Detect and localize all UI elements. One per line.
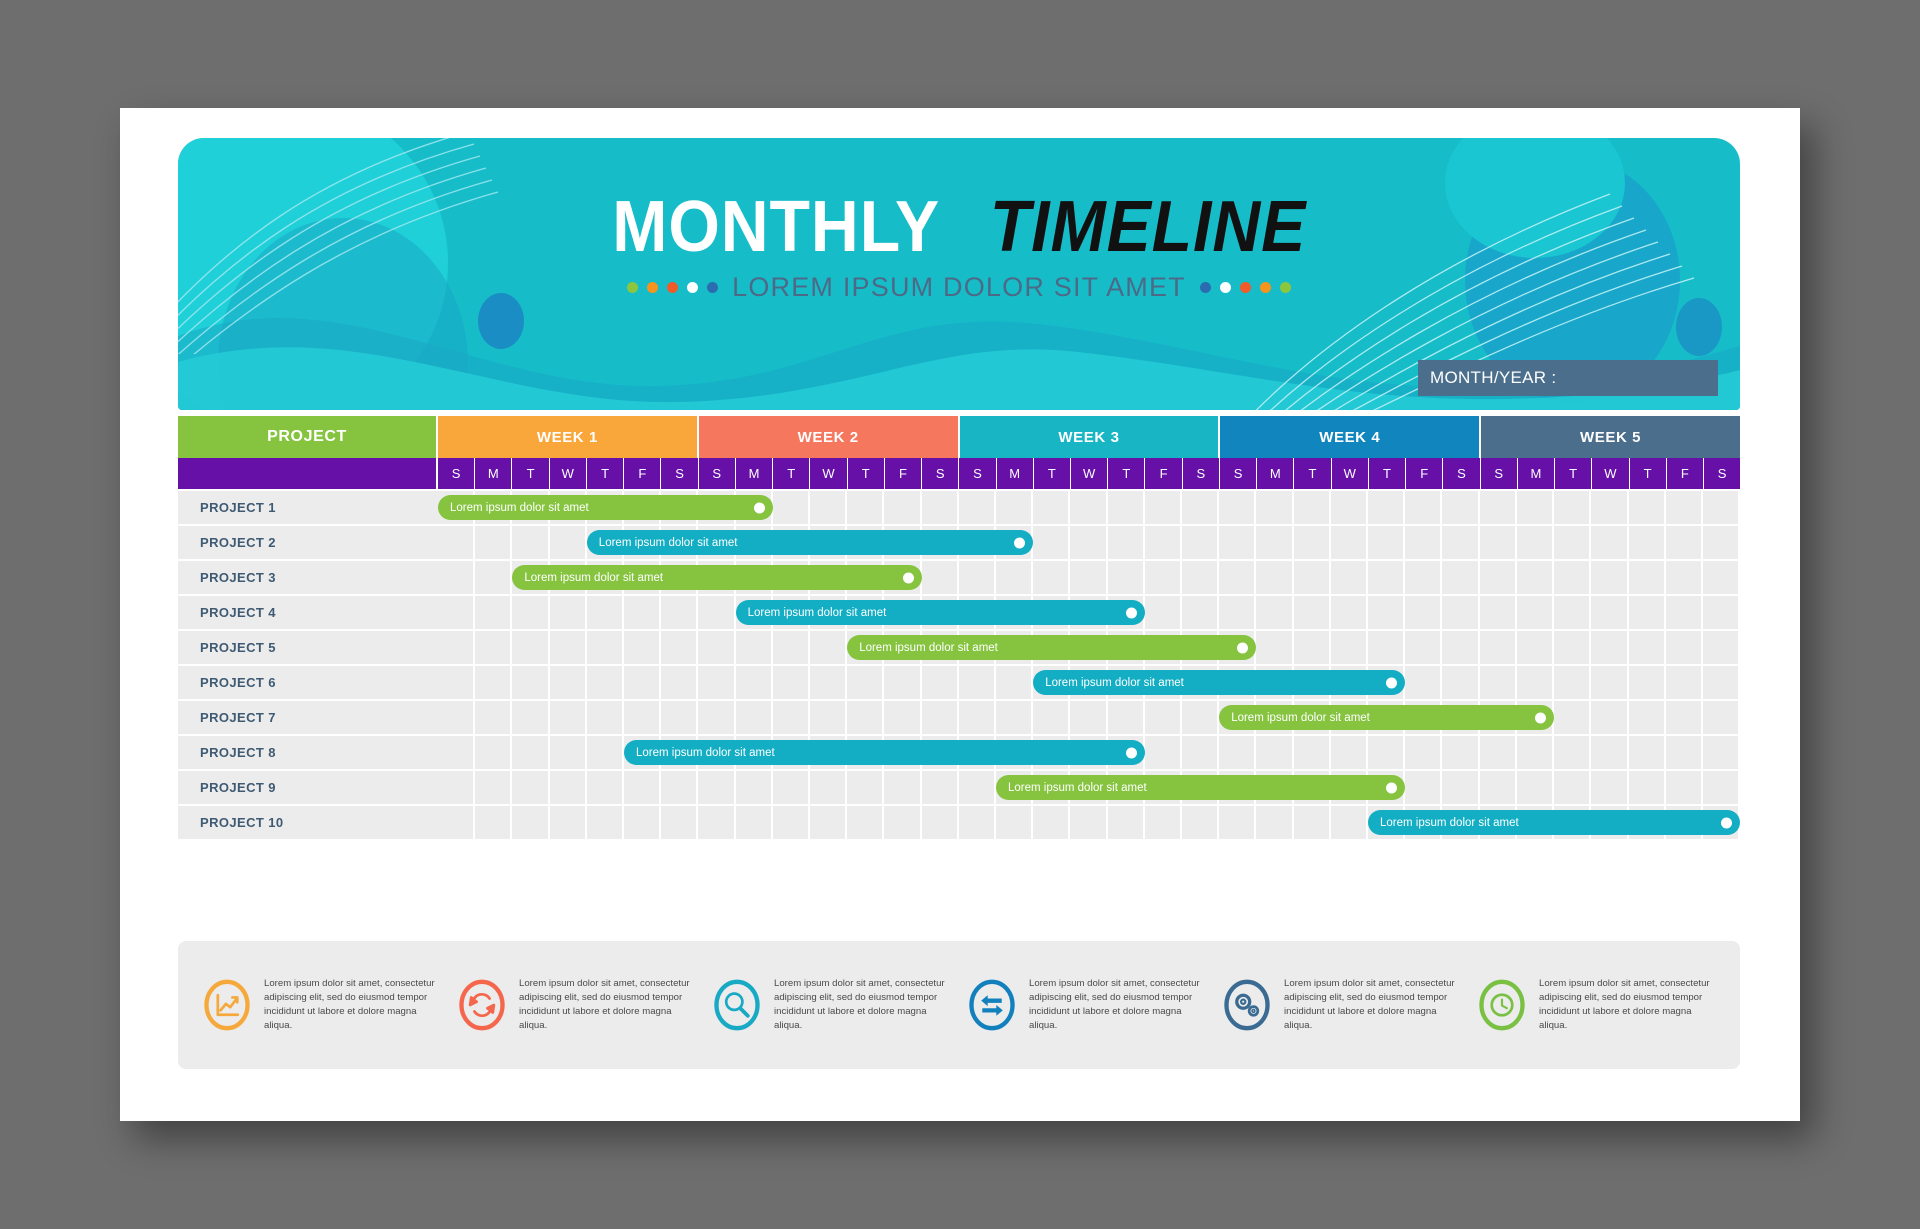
grid-cell	[1517, 631, 1554, 664]
week-header-1: WEEK 1	[438, 416, 699, 458]
grid-cell	[773, 666, 810, 699]
grid-cell	[1442, 666, 1479, 699]
grid-cell	[624, 806, 661, 839]
grid-cell	[1629, 631, 1666, 664]
grid-cell	[922, 806, 959, 839]
day-header-cell: S	[1481, 458, 1518, 489]
grid-cell	[1182, 806, 1219, 839]
decorative-dot	[667, 282, 678, 293]
grid-cell	[661, 701, 698, 734]
grid-cell	[1703, 666, 1740, 699]
grid-cell	[1070, 491, 1107, 524]
grid-cell	[550, 736, 587, 769]
grid-cell	[736, 771, 773, 804]
grid-cell	[1108, 526, 1145, 559]
grid-cell	[550, 631, 587, 664]
grid-cell	[624, 666, 661, 699]
grid-cell	[1480, 736, 1517, 769]
grid-cell	[1219, 736, 1256, 769]
gantt-bar[interactable]: Lorem ipsum dolor sit amet	[512, 565, 921, 590]
legend-item: Lorem ipsum dolor sit amet, consectetur …	[1214, 977, 1469, 1033]
table-row: PROJECT 1Lorem ipsum dolor sit amet	[178, 491, 1740, 524]
grid-cell	[1554, 666, 1591, 699]
gantt-bar-label: Lorem ipsum dolor sit amet	[859, 642, 998, 654]
gantt-bar[interactable]: Lorem ipsum dolor sit amet	[587, 530, 1033, 555]
grid-cell	[1219, 596, 1256, 629]
decorative-dot	[1260, 282, 1271, 293]
day-header-cell: W	[1332, 458, 1369, 489]
grid-cell	[1629, 701, 1666, 734]
grid-cell	[587, 736, 624, 769]
grid-cell	[736, 806, 773, 839]
grid-cell	[1405, 771, 1442, 804]
grid-cell	[587, 701, 624, 734]
grid-cell	[1703, 491, 1740, 524]
grid-cell	[1405, 561, 1442, 594]
day-header-cell: S	[959, 458, 996, 489]
grid-cell	[550, 806, 587, 839]
gantt-bar[interactable]: Lorem ipsum dolor sit amet	[996, 775, 1405, 800]
grid-cell	[1033, 491, 1070, 524]
gantt-bar-end-marker	[1721, 817, 1732, 828]
project-name-cell: PROJECT 1	[178, 491, 438, 524]
gantt-bar-label: Lorem ipsum dolor sit amet	[1008, 782, 1147, 794]
legend-item-text: Lorem ipsum dolor sit amet, consectetur …	[519, 977, 698, 1033]
grid-cell	[996, 561, 1033, 594]
grid-cell	[922, 491, 959, 524]
decorative-dot	[627, 282, 638, 293]
gantt-bar-end-marker	[1237, 642, 1248, 653]
footer-legend: Lorem ipsum dolor sit amet, consectetur …	[178, 941, 1740, 1069]
gantt-bar[interactable]: Lorem ipsum dolor sit amet	[1219, 705, 1554, 730]
project-column-header: PROJECT	[178, 416, 438, 458]
row-grid: Lorem ipsum dolor sit amet	[438, 666, 1740, 699]
subtitle-row: LOREM IPSUM DOLOR SIT AMET	[178, 272, 1740, 303]
grid-cell	[884, 491, 921, 524]
day-header-cell: T	[1369, 458, 1406, 489]
grid-cell	[512, 666, 549, 699]
grid-cell	[698, 596, 735, 629]
grid-cell	[624, 771, 661, 804]
grid-cell	[810, 666, 847, 699]
grid-cell	[661, 806, 698, 839]
day-header-cell: T	[1294, 458, 1331, 489]
grid-cell	[475, 771, 512, 804]
day-header-cell: S	[438, 458, 475, 489]
grid-cell	[1591, 596, 1628, 629]
gantt-bar-end-marker	[754, 502, 765, 513]
grid-cell	[1517, 491, 1554, 524]
day-header-cell: S	[1443, 458, 1480, 489]
table-row: PROJECT 4Lorem ipsum dolor sit amet	[178, 596, 1740, 629]
grid-cell	[1480, 491, 1517, 524]
grid-cell	[661, 771, 698, 804]
project-name-cell: PROJECT 7	[178, 701, 438, 734]
day-header-cell: T	[1034, 458, 1071, 489]
gantt-bar-label: Lorem ipsum dolor sit amet	[524, 572, 663, 584]
grid-cell	[1703, 596, 1740, 629]
day-header-cell: T	[587, 458, 624, 489]
timeline-table: PROJECT WEEK 1WEEK 2WEEK 3WEEK 4WEEK 5 S…	[178, 416, 1740, 839]
grid-cell	[1442, 491, 1479, 524]
grid-cell	[1294, 736, 1331, 769]
grid-cell	[922, 771, 959, 804]
grid-cell	[438, 596, 475, 629]
grid-cell	[773, 806, 810, 839]
grid-cell	[475, 631, 512, 664]
legend-item-text: Lorem ipsum dolor sit amet, consectetur …	[264, 977, 443, 1033]
grid-cell	[1331, 806, 1368, 839]
grid-cell	[773, 701, 810, 734]
grid-cell	[550, 526, 587, 559]
grid-cell	[773, 771, 810, 804]
table-row: PROJECT 5Lorem ipsum dolor sit amet	[178, 631, 1740, 664]
grid-cell	[1629, 666, 1666, 699]
grid-cell	[959, 701, 996, 734]
grid-cell	[1219, 526, 1256, 559]
gantt-bar-label: Lorem ipsum dolor sit amet	[599, 537, 738, 549]
day-header-cell: F	[885, 458, 922, 489]
grid-cell	[1182, 736, 1219, 769]
grid-cell	[1629, 561, 1666, 594]
gantt-bar-label: Lorem ipsum dolor sit amet	[636, 747, 775, 759]
project-name-cell: PROJECT 10	[178, 806, 438, 839]
grid-cell	[512, 631, 549, 664]
grid-cell	[1405, 526, 1442, 559]
grid-cell	[438, 771, 475, 804]
legend-item-text: Lorem ipsum dolor sit amet, consectetur …	[774, 977, 953, 1033]
grid-cell	[1703, 561, 1740, 594]
legend-item-text: Lorem ipsum dolor sit amet, consectetur …	[1284, 977, 1463, 1033]
project-name-cell: PROJECT 9	[178, 771, 438, 804]
grid-cell	[1256, 736, 1293, 769]
gantt-bar-end-marker	[1126, 747, 1137, 758]
grid-cell	[922, 666, 959, 699]
grid-cell	[847, 806, 884, 839]
grid-cell	[1331, 526, 1368, 559]
grid-cell	[1480, 596, 1517, 629]
day-header-cell: S	[1220, 458, 1257, 489]
gantt-bar[interactable]: Lorem ipsum dolor sit amet	[736, 600, 1145, 625]
grid-cell	[1145, 596, 1182, 629]
day-header-cell: T	[848, 458, 885, 489]
page-title: MONTHLYTIMELINE	[178, 186, 1740, 268]
grid-cell	[661, 631, 698, 664]
grid-cell	[661, 596, 698, 629]
decorative-dot	[707, 282, 718, 293]
grid-cell	[1070, 806, 1107, 839]
grid-cell	[1591, 561, 1628, 594]
grid-cell	[661, 666, 698, 699]
grid-cell	[698, 771, 735, 804]
clock-icon	[1475, 978, 1529, 1032]
grid-cell	[959, 561, 996, 594]
gantt-bar[interactable]: Lorem ipsum dolor sit amet	[847, 635, 1256, 660]
grid-cell	[438, 526, 475, 559]
grid-cell	[1256, 596, 1293, 629]
grid-cell	[1442, 771, 1479, 804]
grid-cell	[810, 491, 847, 524]
grid-cell	[475, 736, 512, 769]
day-header-cell: F	[1145, 458, 1182, 489]
day-header-cell: S	[922, 458, 959, 489]
gantt-bar-end-marker	[1535, 712, 1546, 723]
subtitle-text: LOREM IPSUM DOLOR SIT AMET	[732, 272, 1186, 303]
grid-cell	[1666, 596, 1703, 629]
day-header-cell: M	[1257, 458, 1294, 489]
grid-cell	[996, 666, 1033, 699]
row-grid: Lorem ipsum dolor sit amet	[438, 631, 1740, 664]
grid-cell	[922, 701, 959, 734]
day-header-cell: S	[1183, 458, 1220, 489]
grid-cell	[1331, 491, 1368, 524]
grid-cell	[1517, 666, 1554, 699]
row-grid: Lorem ipsum dolor sit amet	[438, 806, 1740, 839]
legend-item: Lorem ipsum dolor sit amet, consectetur …	[959, 977, 1214, 1033]
grid-cell	[1070, 526, 1107, 559]
grid-cell	[1145, 806, 1182, 839]
grid-cell	[1405, 736, 1442, 769]
grid-cell	[1256, 806, 1293, 839]
grid-cell	[1666, 666, 1703, 699]
grid-cell	[1517, 736, 1554, 769]
week-header-3: WEEK 3	[960, 416, 1221, 458]
gears-icon	[1220, 978, 1274, 1032]
grid-cell	[884, 701, 921, 734]
grid-cell	[1145, 701, 1182, 734]
grid-cell	[736, 666, 773, 699]
grid-cell	[512, 736, 549, 769]
grid-cell	[475, 561, 512, 594]
grid-cell	[512, 526, 549, 559]
grid-cell	[959, 491, 996, 524]
decorative-dot	[1200, 282, 1211, 293]
grid-cell	[1033, 561, 1070, 594]
day-headers: SMTWTFSSMTWTFSSMTWTFSSMTWTFSSMTWTFS	[438, 458, 1740, 489]
gantt-bar[interactable]: Lorem ipsum dolor sit amet	[624, 740, 1145, 765]
row-grid: Lorem ipsum dolor sit amet	[438, 561, 1740, 594]
grid-cell	[1070, 561, 1107, 594]
title-secondary: TIMELINE	[990, 186, 1306, 268]
grid-cell	[475, 701, 512, 734]
week-header-4: WEEK 4	[1220, 416, 1481, 458]
legend-item: Lorem ipsum dolor sit amet, consectetur …	[1469, 977, 1724, 1033]
grid-cell	[1554, 596, 1591, 629]
day-header-cell: T	[1630, 458, 1667, 489]
decorative-dots-left	[627, 282, 718, 293]
grid-cell	[1554, 526, 1591, 559]
grid-cell	[1145, 561, 1182, 594]
grid-cell	[1108, 806, 1145, 839]
decorative-dot	[1280, 282, 1291, 293]
gantt-bar-end-marker	[1014, 537, 1025, 548]
grid-cell	[1405, 631, 1442, 664]
grid-cell	[959, 666, 996, 699]
row-grid: Lorem ipsum dolor sit amet	[438, 526, 1740, 559]
grid-cell	[1033, 526, 1070, 559]
grid-cell	[1591, 631, 1628, 664]
grid-cell	[1517, 561, 1554, 594]
grid-cell	[1145, 491, 1182, 524]
gantt-bar-end-marker	[1126, 607, 1137, 618]
table-row: PROJECT 3Lorem ipsum dolor sit amet	[178, 561, 1740, 594]
project-name-cell: PROJECT 3	[178, 561, 438, 594]
grid-cell	[1591, 526, 1628, 559]
grid-cell	[550, 701, 587, 734]
day-header-cell: S	[1704, 458, 1740, 489]
grid-cell	[1331, 561, 1368, 594]
grid-cell	[1629, 736, 1666, 769]
grid-cell	[1480, 771, 1517, 804]
grid-cell	[438, 701, 475, 734]
grid-cell	[1666, 701, 1703, 734]
grid-cell	[996, 806, 1033, 839]
grid-cell	[587, 771, 624, 804]
table-row: PROJECT 7Lorem ipsum dolor sit amet	[178, 701, 1740, 734]
grid-cell	[1666, 736, 1703, 769]
grid-cell	[1405, 596, 1442, 629]
grid-cell	[1517, 596, 1554, 629]
grid-cell	[1666, 526, 1703, 559]
grid-cell	[512, 771, 549, 804]
grid-cell	[1145, 736, 1182, 769]
decorative-dot	[1240, 282, 1251, 293]
day-header-cell: F	[1406, 458, 1443, 489]
timeline-rows: PROJECT 1Lorem ipsum dolor sit ametPROJE…	[178, 491, 1740, 839]
grid-cell	[1703, 736, 1740, 769]
grid-cell	[1294, 806, 1331, 839]
grid-cell	[624, 701, 661, 734]
grid-cell	[1368, 736, 1405, 769]
gantt-bar-label: Lorem ipsum dolor sit amet	[450, 502, 589, 514]
table-row: PROJECT 6Lorem ipsum dolor sit amet	[178, 666, 1740, 699]
day-header-cell: W	[550, 458, 587, 489]
row-grid: Lorem ipsum dolor sit amet	[438, 491, 1740, 524]
grid-cell	[1442, 736, 1479, 769]
refresh-icon	[455, 978, 509, 1032]
grid-cell	[773, 491, 810, 524]
grid-cell	[1666, 491, 1703, 524]
day-header-cell: W	[1071, 458, 1108, 489]
grid-cell	[847, 666, 884, 699]
grid-cell	[1294, 561, 1331, 594]
grid-cell	[1405, 491, 1442, 524]
grid-cell	[1256, 631, 1293, 664]
grid-cell	[624, 596, 661, 629]
row-grid: Lorem ipsum dolor sit amet	[438, 736, 1740, 769]
grid-cell	[1442, 561, 1479, 594]
table-row: PROJECT 9Lorem ipsum dolor sit amet	[178, 771, 1740, 804]
grid-cell	[1703, 631, 1740, 664]
decorative-dots-right	[1200, 282, 1291, 293]
grid-cell	[810, 701, 847, 734]
grid-cell	[1480, 666, 1517, 699]
gantt-bar[interactable]: Lorem ipsum dolor sit amet	[1033, 670, 1405, 695]
grid-cell	[736, 701, 773, 734]
grid-cell	[1442, 631, 1479, 664]
legend-item-text: Lorem ipsum dolor sit amet, consectetur …	[1539, 977, 1718, 1033]
project-name-cell: PROJECT 4	[178, 596, 438, 629]
grid-cell	[1108, 701, 1145, 734]
grid-cell	[884, 771, 921, 804]
grid-cell	[698, 666, 735, 699]
grid-cell	[1554, 631, 1591, 664]
grid-cell	[1256, 561, 1293, 594]
gantt-bar-end-marker	[1386, 677, 1397, 688]
grid-cell	[1703, 771, 1740, 804]
decorative-dot	[647, 282, 658, 293]
grid-cell	[1591, 701, 1628, 734]
grid-cell	[1368, 561, 1405, 594]
grid-cell	[1182, 491, 1219, 524]
gantt-bar[interactable]: Lorem ipsum dolor sit amet	[438, 495, 773, 520]
grid-cell	[884, 666, 921, 699]
grid-cell	[587, 596, 624, 629]
grid-cell	[438, 631, 475, 664]
gantt-bar-end-marker	[903, 572, 914, 583]
week-header-2: WEEK 2	[699, 416, 960, 458]
grid-cell	[550, 666, 587, 699]
grid-cell	[847, 491, 884, 524]
legend-item: Lorem ipsum dolor sit amet, consectetur …	[194, 977, 449, 1033]
grid-cell	[1554, 561, 1591, 594]
day-header-cell: T	[1555, 458, 1592, 489]
month-year-label: MONTH/YEAR :	[1418, 368, 1556, 388]
grid-cell	[550, 771, 587, 804]
grid-cell	[1480, 561, 1517, 594]
day-header-cell: S	[699, 458, 736, 489]
grid-cell	[1331, 631, 1368, 664]
day-header-cell: M	[475, 458, 512, 489]
grid-cell	[1070, 701, 1107, 734]
grid-cell	[959, 771, 996, 804]
grid-cell	[1629, 771, 1666, 804]
grid-cell	[587, 666, 624, 699]
grid-cell	[1666, 561, 1703, 594]
grid-cell	[698, 701, 735, 734]
gantt-bar-end-marker	[1386, 782, 1397, 793]
row-grid: Lorem ipsum dolor sit amet	[438, 771, 1740, 804]
project-column-spacer	[178, 458, 438, 489]
month-year-field[interactable]: MONTH/YEAR :	[1418, 360, 1718, 396]
grid-cell	[1666, 631, 1703, 664]
grid-cell	[1703, 701, 1740, 734]
decorative-dot	[687, 282, 698, 293]
gantt-bar-label: Lorem ipsum dolor sit amet	[1231, 712, 1370, 724]
project-name-cell: PROJECT 2	[178, 526, 438, 559]
grid-cell	[884, 806, 921, 839]
grid-cell	[475, 666, 512, 699]
grid-cell	[1033, 701, 1070, 734]
grid-cell	[773, 631, 810, 664]
gantt-bar[interactable]: Lorem ipsum dolor sit amet	[1368, 810, 1740, 835]
grid-cell	[438, 736, 475, 769]
grid-cell	[1033, 806, 1070, 839]
grid-cell	[1480, 526, 1517, 559]
title-primary: MONTHLY	[612, 186, 940, 268]
gantt-bar-label: Lorem ipsum dolor sit amet	[1380, 817, 1519, 829]
grid-cell	[1517, 526, 1554, 559]
grid-cell	[1182, 701, 1219, 734]
grid-cell	[438, 666, 475, 699]
grid-cell	[1591, 771, 1628, 804]
grid-cell	[512, 701, 549, 734]
day-header-cell: F	[1667, 458, 1704, 489]
grid-cell	[1442, 526, 1479, 559]
gantt-bar-label: Lorem ipsum dolor sit amet	[748, 607, 887, 619]
grid-cell	[1108, 491, 1145, 524]
table-row: PROJECT 10Lorem ipsum dolor sit amet	[178, 806, 1740, 839]
